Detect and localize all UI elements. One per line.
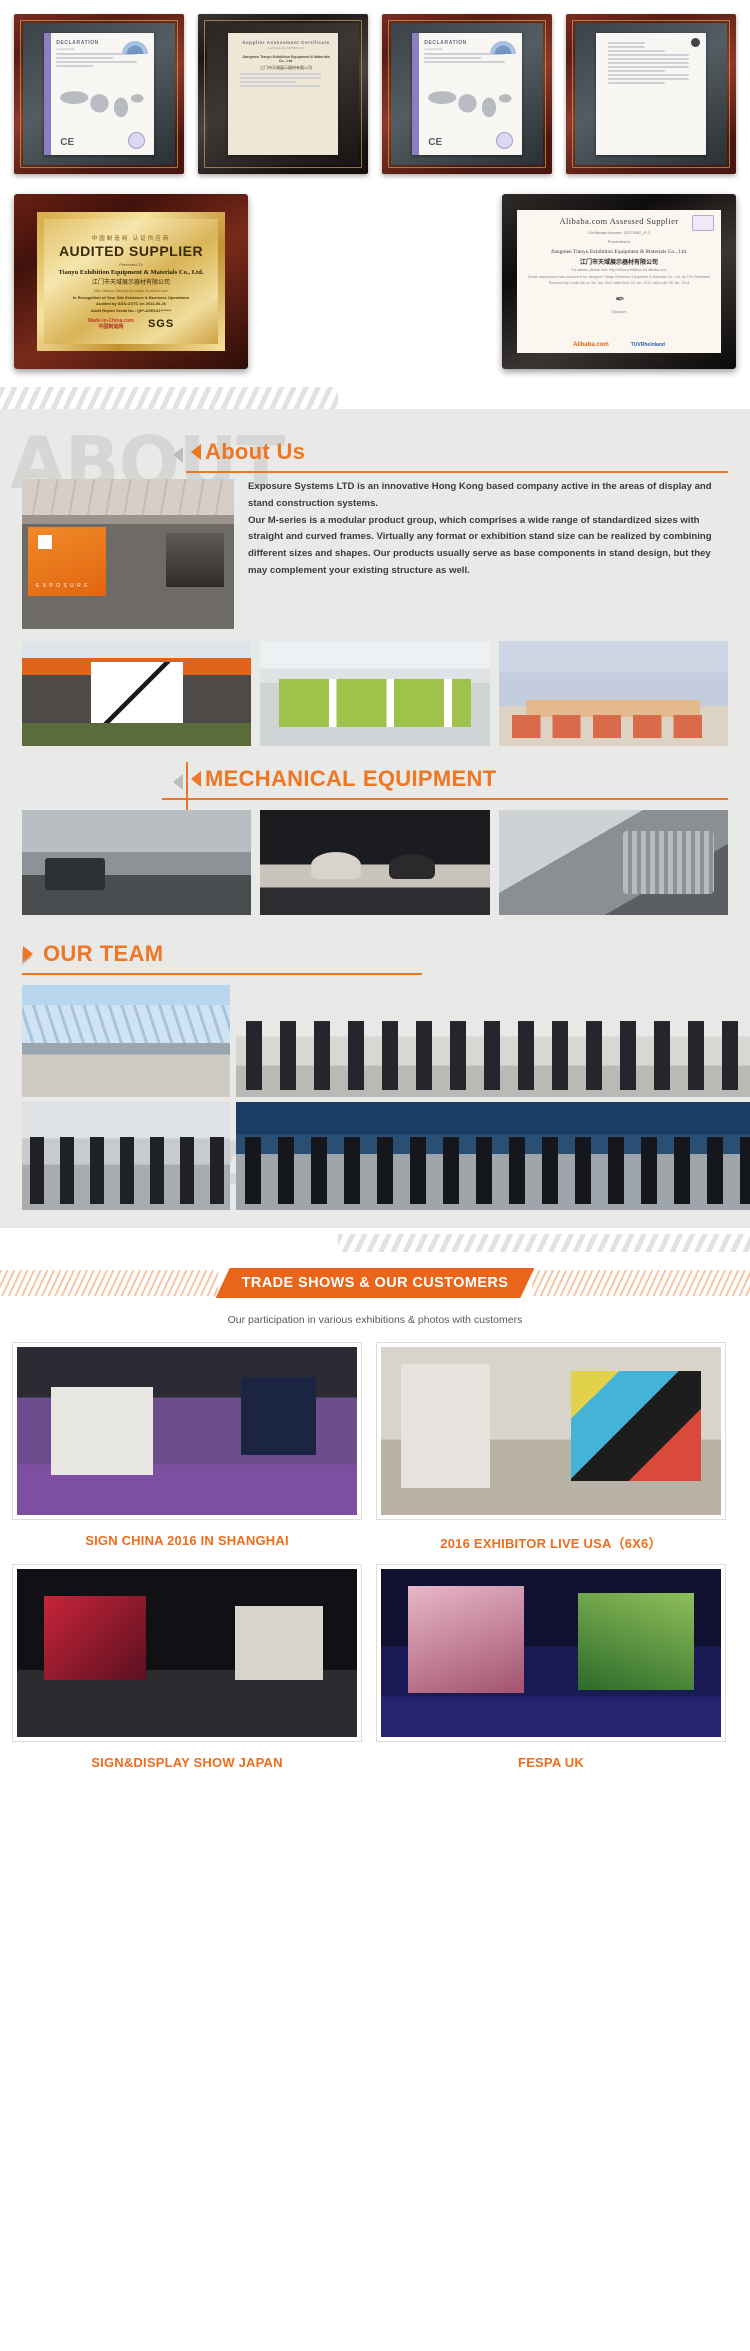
- plaque-headline: AUDITED SUPPLIER: [59, 243, 203, 259]
- trade-shows-banner-label: TRADE SHOWS & OUR CUSTOMERS: [216, 1268, 535, 1298]
- plaque-note: Onsite assessment was conducted for Jian…: [528, 275, 710, 279]
- office-workstations-photo[interactable]: [260, 641, 489, 746]
- mechanical-heading-bold: MECHANICAL: [205, 766, 356, 792]
- trade-show-photo: [381, 1569, 721, 1737]
- plaque-serial: Audit Report Serial No.: QIP-ASR131*****…: [91, 308, 171, 313]
- certificate-number: Certificate No.S6P5MC-P-3: [240, 46, 331, 50]
- plaque-cn-header: 中国制造网 认证供应商: [92, 234, 171, 242]
- product-detail-page: DECLARATION of Conformity CE Su: [0, 0, 750, 1792]
- people-silhouettes: [236, 1137, 750, 1204]
- trade-show-photo: [381, 1347, 721, 1515]
- factory-exterior-photo[interactable]: [22, 641, 251, 746]
- certificate-paper: Supplier Assessment Certificate Certific…: [228, 33, 337, 155]
- text-line: [424, 61, 504, 63]
- team-heading-block: OUR TEAM: [0, 941, 750, 975]
- plaque-cert-number: Certificate Number: GOTSMC_P-3: [588, 230, 650, 235]
- plaque-company: Tianyu Exhibition Equipment & Materials …: [59, 269, 204, 276]
- certificate-ce-declaration-2[interactable]: DECLARATION of Conformity CE: [382, 14, 552, 174]
- certificate-ce-declaration[interactable]: DECLARATION of Conformity CE: [14, 14, 184, 174]
- signature-label: Signature: [612, 310, 627, 314]
- team-group-photo[interactable]: [22, 1102, 230, 1210]
- trade-show-caption: 2016 EXHIBITOR LIVE USA（6X6）: [376, 1533, 726, 1552]
- plaque-gold-plate: 中国制造网 认证供应商 AUDITED SUPPLIER Presented T…: [37, 212, 224, 350]
- certificate-mat: DECLARATION of Conformity CE: [23, 23, 175, 165]
- text-line: [608, 42, 645, 44]
- mechanical-heading-block: MECHANICAL EQUIPMENT: [0, 762, 750, 800]
- ce-mark-label: CE: [428, 137, 442, 148]
- alibaba-assessed-supplier-plaque[interactable]: Alibaba.com Assessed Supplier Certificat…: [502, 194, 736, 369]
- mechanical-heading-row: MECHANICAL EQUIPMENT: [186, 766, 728, 792]
- tuv-rheinland-logo: TUVRheinland: [631, 342, 665, 348]
- text-line: [56, 57, 113, 59]
- trade-show-image-frame[interactable]: [12, 1564, 362, 1742]
- banner-stripe-left: [0, 1270, 218, 1296]
- certificate-mat: [575, 23, 727, 165]
- certificate-paper: DECLARATION of Conformity CE: [412, 33, 521, 155]
- certificate-company: Jiangmen Tianyu Exhibition Equipment & M…: [240, 55, 331, 63]
- arrow-left-icon: [191, 771, 201, 787]
- trade-show-image-frame[interactable]: [376, 1564, 726, 1742]
- plaque-headline: Alibaba.com Assessed Supplier: [559, 216, 678, 226]
- certificates-section: DECLARATION of Conformity CE Su: [0, 0, 750, 387]
- text-line: [608, 78, 688, 80]
- plaque-presented-to: Presented To: [119, 262, 143, 267]
- stripe-divider-trade: [338, 1234, 750, 1252]
- ul-mark-icon: [691, 38, 700, 47]
- made-in-china-logo: Made-in-China.com 中国制造网: [88, 318, 134, 330]
- text-line: [608, 54, 688, 56]
- trade-show-sign-display-japan[interactable]: SIGN&DISPLAY SHOW JAPAN: [12, 1564, 362, 1770]
- certificate-row-top: DECLARATION of Conformity CE Su: [0, 14, 750, 174]
- team-outdoor-photo[interactable]: [22, 985, 230, 1097]
- mechanical-heading-rule: [162, 798, 728, 800]
- trade-show-caption: FESPA UK: [376, 1755, 726, 1770]
- audited-supplier-plaque[interactable]: 中国制造网 认证供应商 AUDITED SUPPLIER Presented T…: [14, 194, 248, 369]
- plaque-detail: For details, please visit: http://china-…: [571, 268, 666, 272]
- about-section: ABOUT About Us E X P O S U R E Exposure …: [0, 409, 750, 1228]
- trade-show-image-frame[interactable]: [376, 1342, 726, 1520]
- about-paragraph-2: Our M-series is a modular product group,…: [248, 513, 728, 580]
- certificate-mat: Supplier Assessment Certificate Certific…: [207, 23, 359, 165]
- supplier-assessment-badge-icon: [692, 215, 714, 231]
- trade-show-image-frame[interactable]: [12, 1342, 362, 1520]
- alibaba-logo: Alibaba.com: [573, 342, 609, 348]
- about-heading: About Us: [205, 439, 305, 465]
- trade-show-photo: [17, 1347, 357, 1515]
- people-silhouettes: [22, 1137, 230, 1204]
- certificate-row-bottom: 中国制造网 认证供应商 AUDITED SUPPLIER Presented T…: [0, 174, 750, 377]
- about-heading-rule: [186, 471, 728, 473]
- text-line: [608, 58, 688, 60]
- team-heading-row: OUR TEAM: [22, 941, 728, 967]
- text-line: [240, 85, 320, 87]
- exposure-logo-mark: [38, 535, 52, 549]
- trade-shows-section: TRADE SHOWS & OUR CUSTOMERS Our particip…: [0, 1228, 750, 1792]
- exposure-brand-panel: E X P O S U R E: [28, 527, 106, 596]
- text-line: [240, 77, 320, 79]
- arrow-left-icon: [191, 444, 201, 460]
- team-booth-photo[interactable]: [236, 985, 750, 1097]
- text-line: [424, 57, 481, 59]
- arrow-right-icon: [23, 946, 33, 962]
- team-expo-photo[interactable]: [236, 1102, 750, 1210]
- mechanical-heading-light: EQUIPMENT: [363, 766, 497, 792]
- plaque-company-cn: 江门市天域展示器材有限公司: [580, 257, 658, 266]
- team-photo-row-1: [0, 975, 750, 1097]
- trade-show-caption: SIGN&DISPLAY SHOW JAPAN: [12, 1755, 362, 1770]
- certificate-seal-icon: [128, 132, 145, 149]
- cnc-machine-photo[interactable]: [22, 810, 251, 915]
- text-line: [608, 82, 665, 84]
- plaque-company-cn: 江门市天域展示器材有限公司: [92, 277, 170, 286]
- paper-spine: [412, 33, 419, 155]
- sgs-logo: SGS: [148, 318, 174, 330]
- team-heading-bold: OUR: [43, 941, 93, 967]
- trade-show-exhibitor-live-usa[interactable]: 2016 EXHIBITOR LIVE USA（6X6）: [376, 1342, 726, 1552]
- trade-show-fespa-uk[interactable]: FESPA UK: [376, 1564, 726, 1770]
- about-heading-row: About Us: [186, 439, 728, 465]
- certificate-test-report[interactable]: [566, 14, 736, 174]
- team-photo-row-2: [0, 1097, 750, 1210]
- paper-spine: [44, 33, 51, 155]
- text-line: [56, 65, 93, 67]
- plaque-logo-row: Alibaba.com TUVRheinland: [573, 342, 665, 348]
- trade-show-caption: SIGN CHINA 2016 IN SHANGHAI: [12, 1533, 362, 1548]
- plaque-certificate-paper: Alibaba.com Assessed Supplier Certificat…: [517, 210, 721, 354]
- arrow-shadow-icon: [173, 774, 183, 790]
- certificate-mat: DECLARATION of Conformity CE: [391, 23, 543, 165]
- stripe-divider-top: [0, 387, 338, 409]
- trade-shows-grid: SIGN CHINA 2016 IN SHANGHAI 2016 EXHIBIT…: [0, 1326, 750, 1792]
- text-line: [608, 50, 665, 52]
- rolling-machine-photo[interactable]: [499, 810, 728, 915]
- about-paragraph-1: Exposure Systems LTD is an innovative Ho…: [248, 479, 728, 513]
- text-line: [608, 66, 688, 68]
- about-text-block: Exposure Systems LTD is an innovative Ho…: [248, 479, 728, 629]
- lathe-machine-photo[interactable]: [260, 810, 489, 915]
- world-map-graphic: [426, 82, 515, 124]
- arrow-shadow-icon: [173, 447, 183, 463]
- trade-show-sign-china-2016[interactable]: SIGN CHINA 2016 IN SHANGHAI: [12, 1342, 362, 1552]
- certificate-paper: DECLARATION of Conformity CE: [44, 33, 153, 155]
- showroom-photo[interactable]: E X P O S U R E: [22, 479, 234, 629]
- people-silhouettes: [236, 1021, 750, 1090]
- certificate-company-cn: 江门市天域展示器材有限公司: [240, 65, 331, 71]
- about-gallery: [0, 629, 750, 746]
- text-line: [240, 73, 320, 75]
- text-line: [608, 70, 665, 72]
- certificate-title: Supplier Assessment Certificate: [240, 40, 331, 45]
- trade-shows-subtitle: Our participation in various exhibitions…: [0, 1314, 750, 1326]
- about-body: E X P O S U R E Exposure Systems LTD is …: [0, 479, 750, 629]
- trade-show-photo: [17, 1569, 357, 1737]
- text-line: [56, 61, 136, 63]
- plaque-url: http://tianyu-display.en.made-in-china.c…: [94, 288, 169, 293]
- text-line: [240, 81, 297, 83]
- signature-graphic: ✒: [614, 292, 624, 307]
- plaque-presented: Presented to: [608, 239, 631, 244]
- mechanical-section: MECHANICAL EQUIPMENT: [0, 746, 750, 915]
- certificate-seal-icon: [496, 132, 513, 149]
- banner-stripe-right: [532, 1270, 750, 1296]
- about-heading-block: About Us: [0, 419, 750, 473]
- certificate-supplier-assessment[interactable]: Supplier Assessment Certificate Certific…: [198, 14, 368, 174]
- text-line: [608, 62, 688, 64]
- plaque-recognition: In Recognition of Your Site Existence & …: [73, 295, 189, 300]
- plaque-company: Jiangmen Tianyu Exhibition Equipment & M…: [551, 249, 688, 255]
- ceiling-detail: [22, 479, 234, 515]
- trade-shows-banner: TRADE SHOWS & OUR CUSTOMERS: [0, 1266, 750, 1300]
- text-line: [608, 46, 645, 48]
- meeting-room-photo[interactable]: [499, 641, 728, 746]
- plaque-audited-by: Audited by SGS-CSTC on 2013-06-26: [96, 301, 166, 306]
- team-section: TEAM OUR TEAM: [0, 915, 750, 1210]
- text-line: [608, 74, 688, 76]
- ce-mark-label: CE: [60, 137, 74, 148]
- exposure-logo-label: E X P O S U R E: [36, 583, 88, 589]
- display-screen: [166, 533, 224, 587]
- plaque-validity: Released By: Linda Wu on 3rd Jan. 2013 V…: [549, 281, 689, 285]
- certificate-paper: [596, 33, 705, 155]
- plaque-logo-row: Made-in-China.com 中国制造网 SGS: [88, 318, 174, 330]
- team-heading-light: TEAM: [100, 941, 164, 967]
- mechanical-gallery: [0, 800, 750, 915]
- world-map-graphic: [58, 82, 147, 124]
